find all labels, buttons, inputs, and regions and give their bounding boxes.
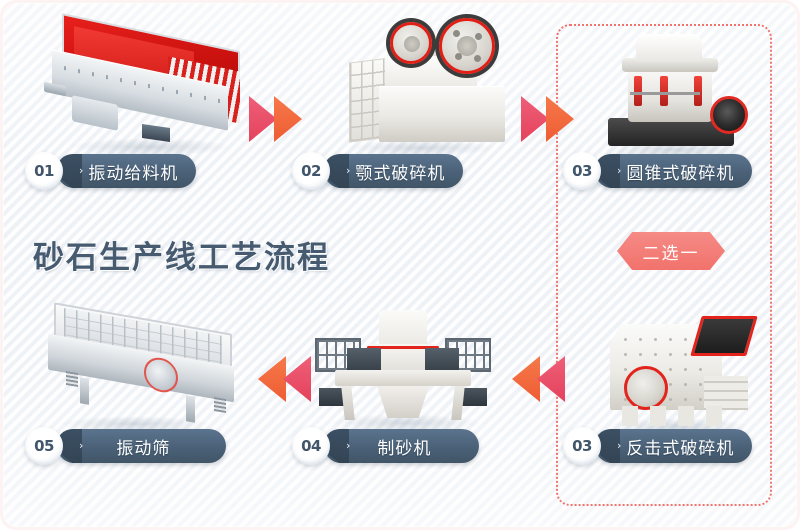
page-title: 砂石生产线工艺流程 — [33, 232, 330, 277]
step-label-text-01: 振动给料机 — [88, 159, 178, 184]
arrow-feeder-to-jaw — [249, 96, 305, 142]
cone-crusher-illustration — [600, 22, 750, 150]
step-label-text-03-cone: 圆锥式破碎机 — [626, 159, 734, 184]
step-number-badge-01: 01 — [25, 152, 63, 190]
choose-one-badge: 二选一 — [617, 232, 725, 270]
arrow-chevron-3b-icon — [537, 356, 565, 402]
jaw-crusher-illustration — [335, 14, 515, 154]
step-number-badge-02: 02 — [292, 152, 330, 190]
step-label-pill-02[interactable]: › 颚式破碎机 — [324, 154, 463, 188]
step-label-pill-03-cone[interactable]: › 圆锥式破碎机 — [595, 154, 752, 188]
step-number-badge-05: 05 — [25, 427, 63, 465]
step-label-pill-03-impact[interactable]: › 反击式破碎机 — [595, 429, 752, 463]
flowchart-canvas: 01 › 振动给料机 — [0, 0, 800, 530]
chevron-right-icon: › — [79, 164, 83, 177]
chevron-right-icon: › — [79, 439, 83, 452]
arrow-chevron-2b-icon — [546, 96, 574, 142]
arrow-chevron-1a-icon — [249, 96, 277, 142]
step-label-pill-05[interactable]: › 振动筛 — [57, 429, 226, 463]
arrow-sand-to-screen — [258, 356, 314, 402]
arrow-chevron-4b-icon — [283, 356, 311, 402]
step-label-pill-04[interactable]: › 制砂机 — [324, 429, 479, 463]
step-label-text-03-impact: 反击式破碎机 — [626, 434, 734, 459]
arrow-chevron-2a-icon — [521, 96, 549, 142]
step-number-badge-03-cone: 03 — [563, 152, 601, 190]
vibrating-feeder-illustration — [38, 26, 248, 146]
chevron-right-icon: › — [346, 439, 350, 452]
step-label-pill-01[interactable]: › 振动给料机 — [57, 154, 196, 188]
step-number-badge-04: 04 — [292, 427, 330, 465]
arrow-chevron-4a-icon — [258, 356, 286, 402]
arrow-jaw-to-crusher-group — [521, 96, 577, 142]
step-number-badge-03-impact: 03 — [563, 427, 601, 465]
sand-making-machine-illustration — [305, 304, 501, 426]
step-label-text-02: 颚式破碎机 — [355, 159, 445, 184]
impact-crusher-illustration — [600, 306, 758, 430]
chevron-right-icon: › — [346, 164, 350, 177]
chevron-right-icon: › — [617, 164, 621, 177]
step-label-text-05: 振动筛 — [116, 434, 170, 459]
arrow-chevron-3a-icon — [512, 356, 540, 402]
arrow-chevron-1b-icon — [274, 96, 302, 142]
vibrating-screen-illustration — [36, 310, 250, 420]
chevron-right-icon: › — [617, 439, 621, 452]
arrow-impact-to-sand — [512, 356, 568, 402]
step-label-text-04: 制砂机 — [377, 434, 431, 459]
